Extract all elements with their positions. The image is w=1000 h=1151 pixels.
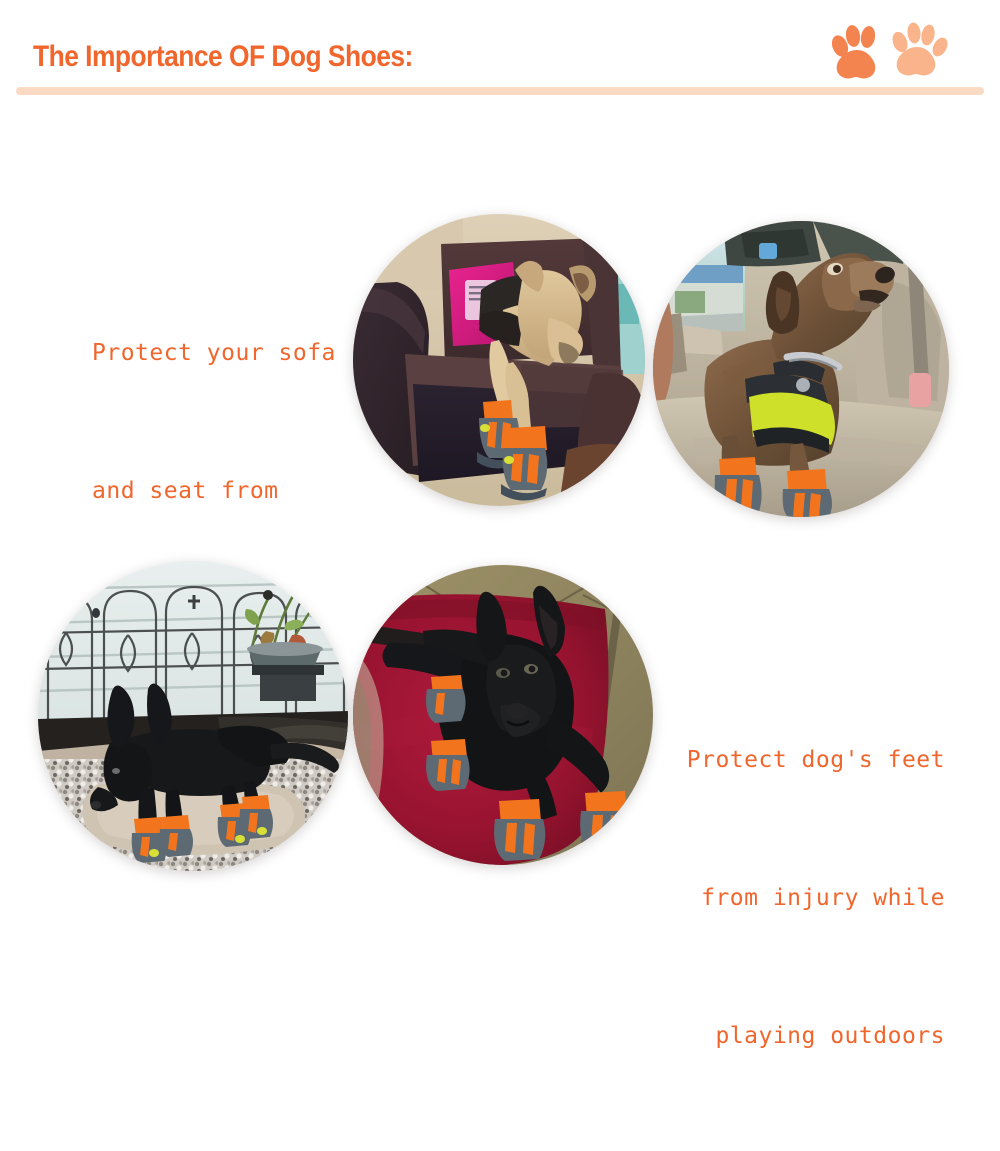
benefit-line: playing outdoors — [645, 1013, 945, 1059]
paw-print-icon-left — [828, 24, 886, 84]
header-divider — [16, 87, 984, 95]
header: The Importance OF Dog Shoes: — [0, 0, 1000, 100]
benefit-line: Protect dog's feet — [645, 737, 945, 783]
photo-outdoor — [38, 561, 348, 871]
benefit-line: from injury while — [645, 875, 945, 921]
photo-rug — [353, 565, 653, 865]
paw-prints-group — [828, 22, 954, 84]
photo-sofa-scene — [353, 214, 645, 506]
infographic-page: The Importance OF Dog Shoes: — [0, 0, 1000, 1000]
benefit-text-protect-feet: Protect dog's feet from injury while pla… — [645, 645, 945, 1151]
photo-rug-scene — [353, 565, 653, 865]
photo-car-scene — [653, 221, 949, 517]
photo-outdoor-scene — [38, 561, 348, 871]
benefit-line: and seat from — [92, 468, 336, 514]
page-title: The Importance OF Dog Shoes: — [33, 40, 413, 74]
photo-sofa — [353, 214, 645, 506]
photo-car — [653, 221, 949, 517]
paw-print-icon-right — [890, 22, 948, 82]
benefit-line: Protect your sofa — [92, 330, 336, 376]
